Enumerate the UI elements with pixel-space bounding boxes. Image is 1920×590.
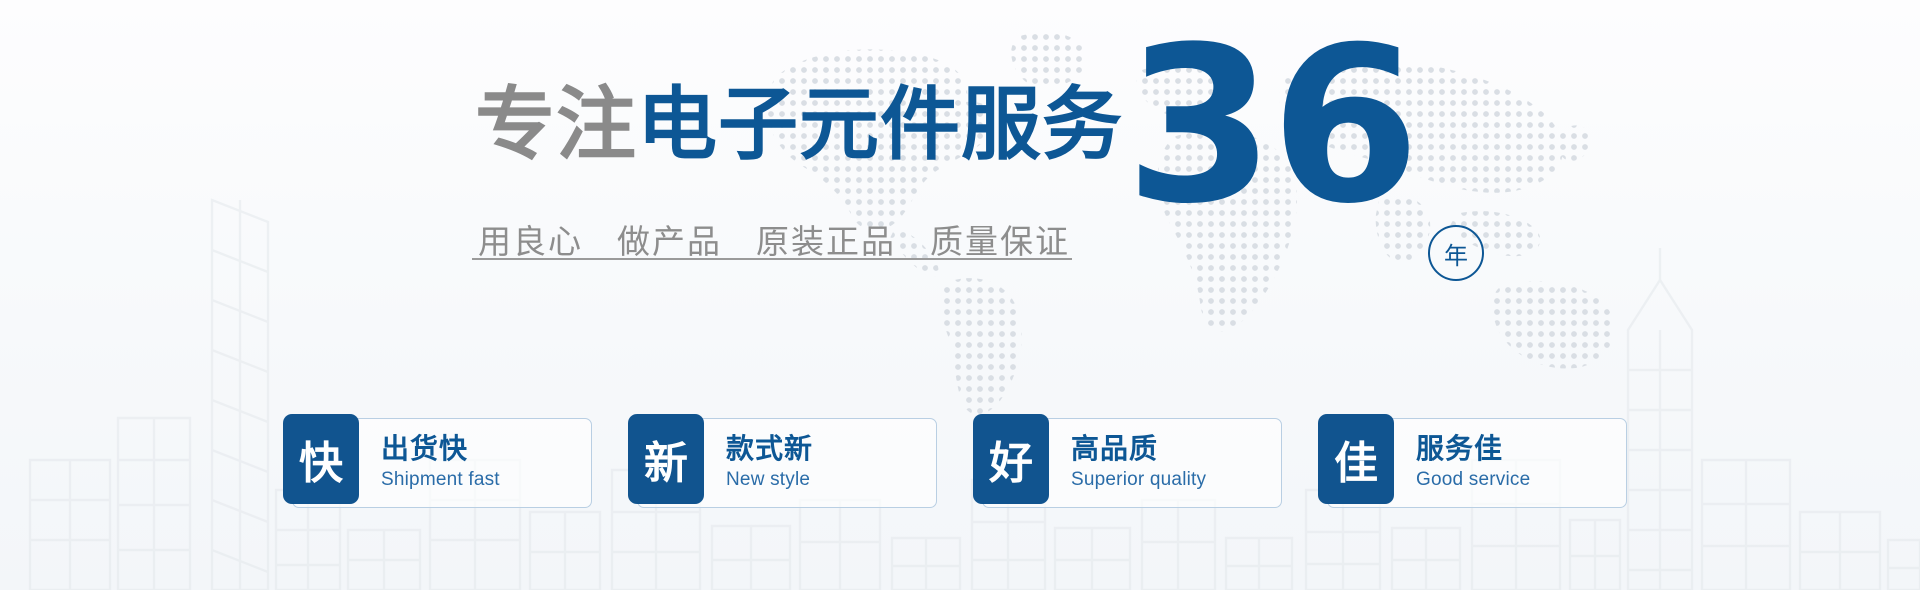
feature-text: 款式新 New style (726, 433, 813, 493)
feature-title-cn: 款式新 (726, 433, 813, 465)
subtitle-item: 用良心 (478, 222, 583, 262)
feature-text: 服务佳 Good service (1416, 433, 1530, 493)
subtitle-item: 做产品 (617, 222, 722, 262)
years-number: 36 (1125, 18, 1416, 233)
promo-banner: 专注 电子元件服务 36 年 用良心 做产品 原装正品 质量保证 快 出货快 S… (0, 0, 1920, 590)
headline-grey-text: 专注 (475, 84, 637, 166)
feature-title-en: Superior quality (1071, 467, 1206, 493)
feature-title-cn: 服务佳 (1416, 433, 1530, 465)
feature-title-en: New style (726, 467, 813, 493)
headline-blue-text: 电子元件服务 (637, 84, 1123, 166)
subtitle-item: 质量保证 (930, 222, 1070, 262)
feature-title-cn: 出货快 (381, 433, 500, 465)
year-unit-badge: 年 (1428, 225, 1484, 281)
feature-text: 高品质 Superior quality (1071, 433, 1206, 493)
feature-card-style[interactable]: 新 款式新 New style (637, 418, 937, 508)
feature-title-en: Good service (1416, 467, 1530, 493)
feature-card-list: 快 出货快 Shipment fast 新 款式新 New style 好 高品… (292, 418, 1627, 508)
feature-card-quality[interactable]: 好 高品质 Superior quality (982, 418, 1282, 508)
feature-card-service[interactable]: 佳 服务佳 Good service (1327, 418, 1627, 508)
feature-badge: 快 (283, 414, 359, 504)
feature-badge: 新 (628, 414, 704, 504)
feature-card-shipment[interactable]: 快 出货快 Shipment fast (292, 418, 592, 508)
feature-title-en: Shipment fast (381, 467, 500, 493)
feature-title-cn: 高品质 (1071, 433, 1206, 465)
headline: 专注 电子元件服务 (475, 84, 1123, 166)
feature-badge: 好 (973, 414, 1049, 504)
feature-text: 出货快 Shipment fast (381, 433, 500, 493)
feature-badge: 佳 (1318, 414, 1394, 504)
subtitle-item: 原装正品 (756, 222, 896, 262)
subtitle: 用良心 做产品 原装正品 质量保证 (478, 222, 1070, 262)
